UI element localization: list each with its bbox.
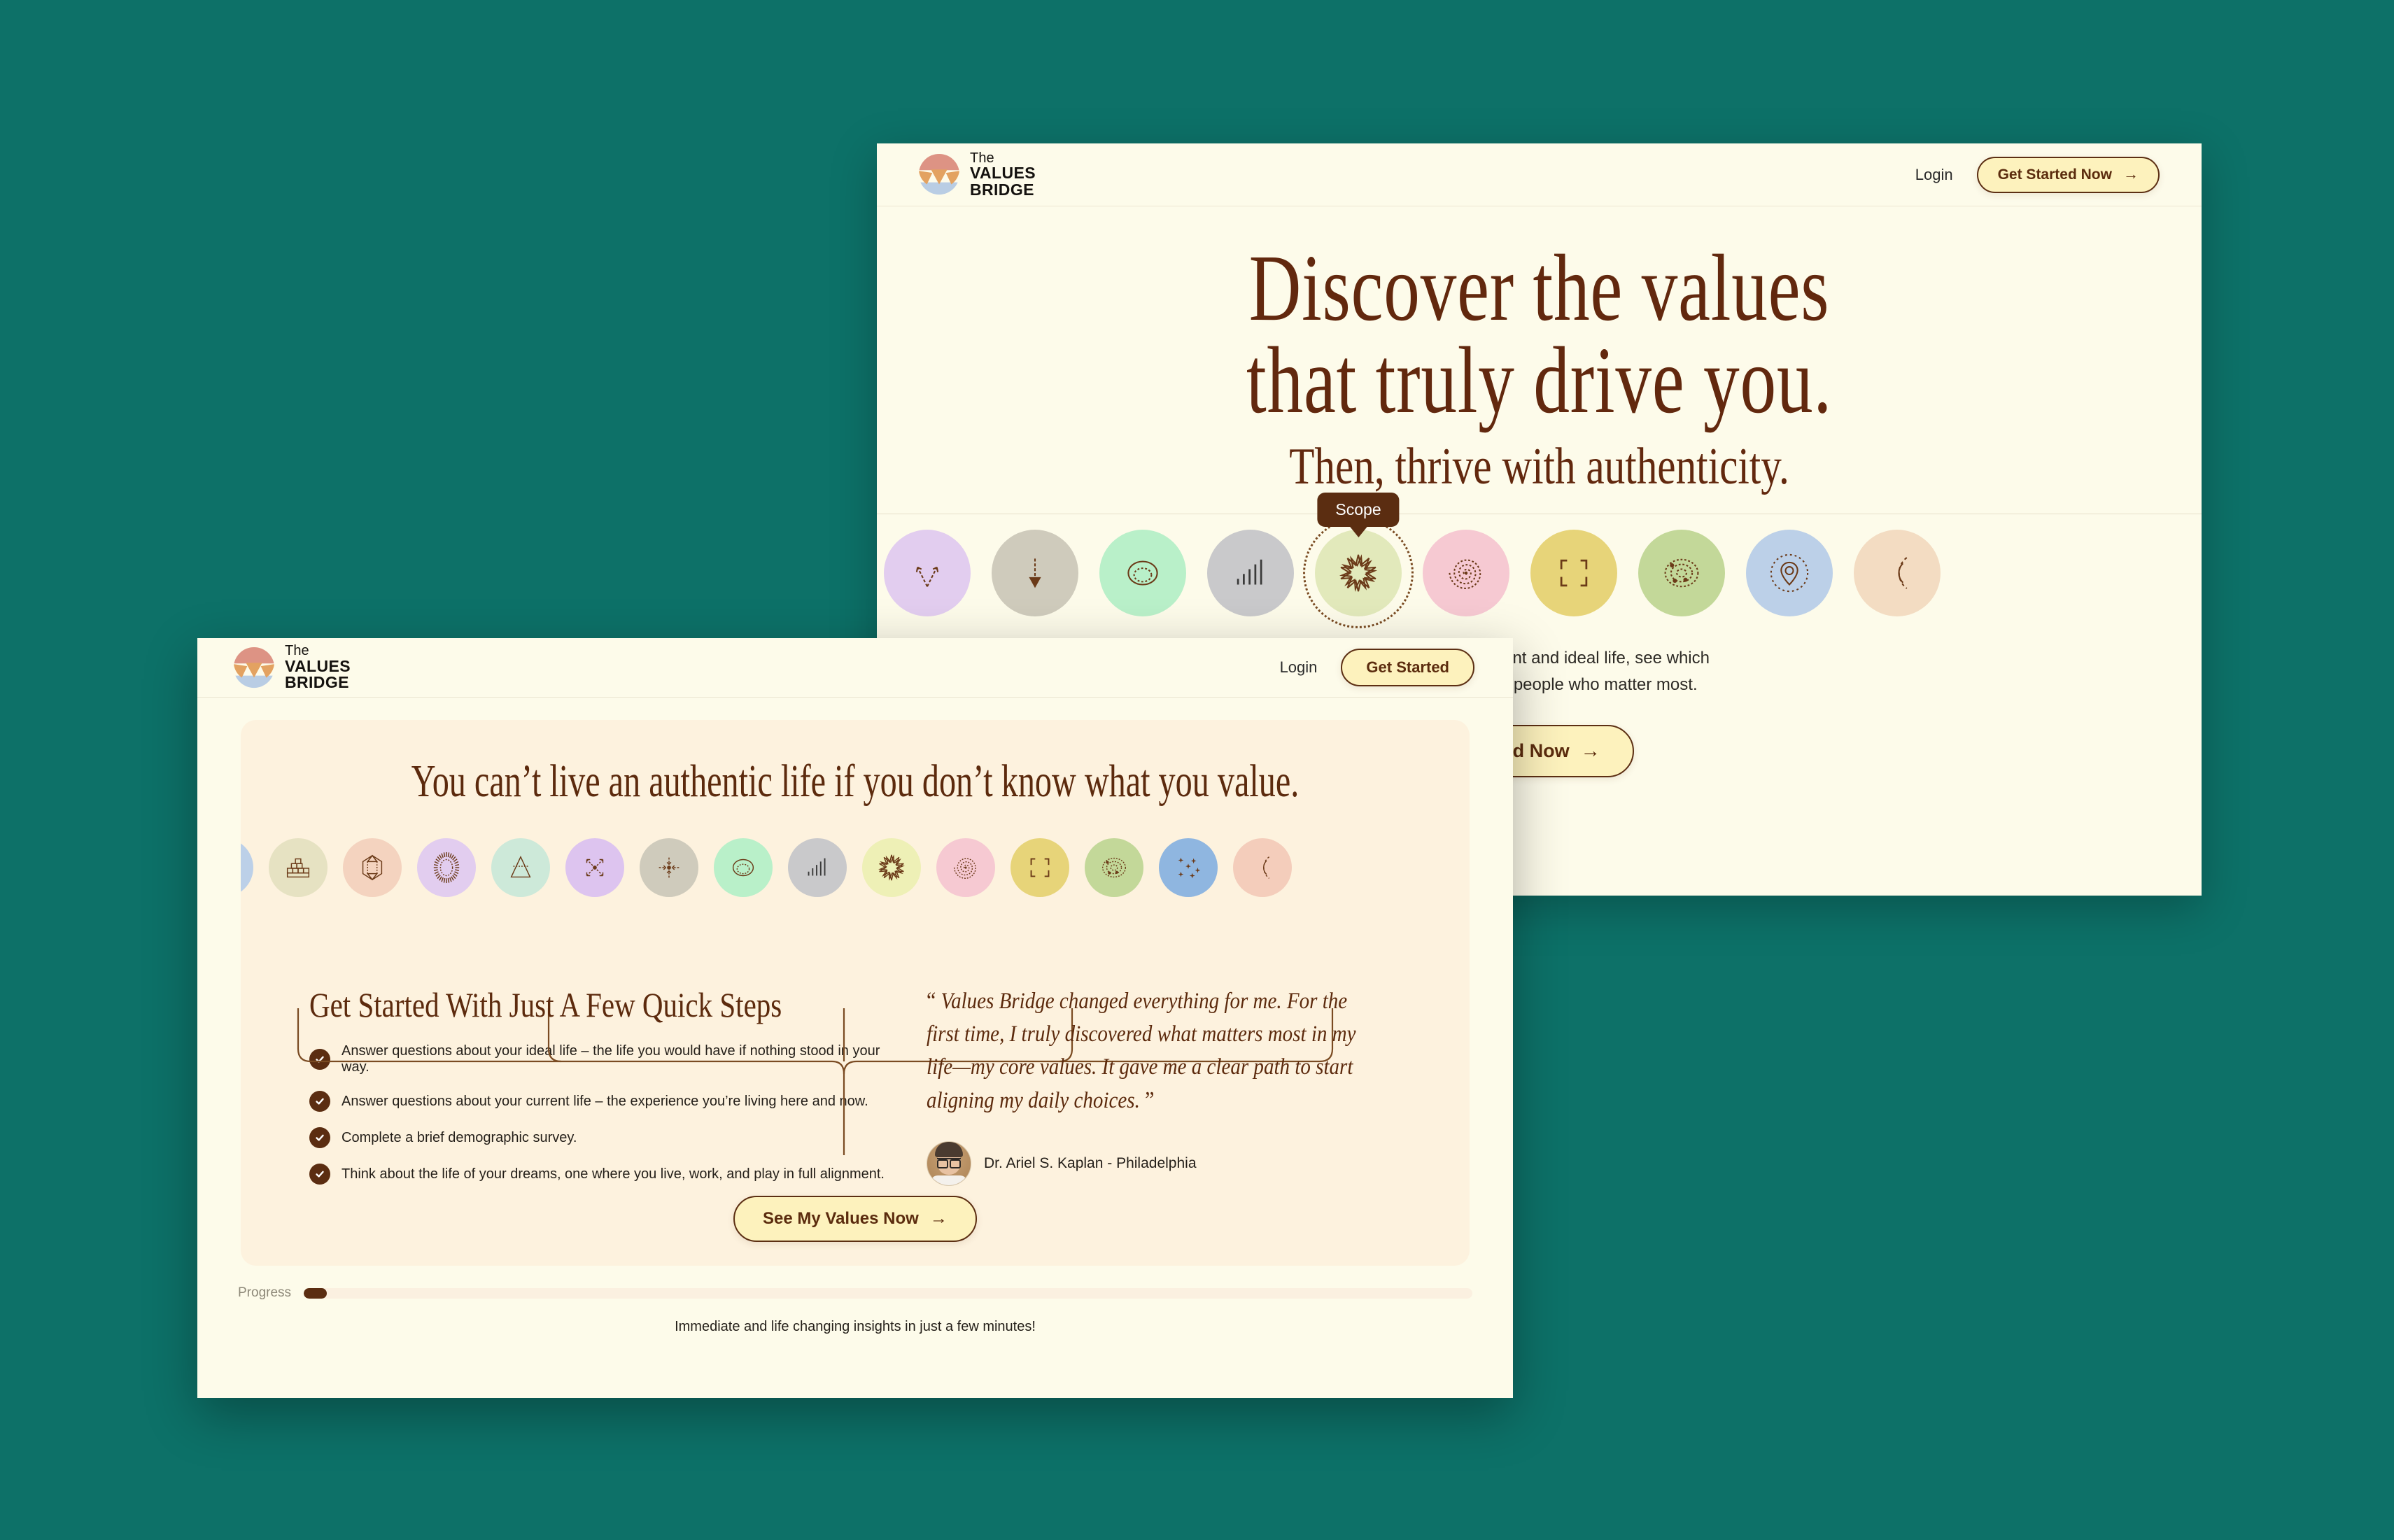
front-cta-label: Get Started [1366,658,1449,677]
step-text: Answer questions about your current life… [342,1094,868,1110]
testimonial-author-row: Dr. Ariel S. Kaplan - Philadelphia [927,1141,1435,1186]
step-text: Think about the life of your dreams, one… [342,1166,885,1182]
progress-row: Progress [238,1285,1472,1301]
value-icon-sunburst-oval[interactable] [417,838,476,897]
step-item: Think about the life of your dreams, one… [309,1164,899,1185]
value-icon-triangle[interactable] [491,838,550,897]
down-arrow-icon [1012,550,1058,596]
brand-logo-text: The VALUES BRIDGE [970,151,1036,198]
spiral-icon [950,852,982,884]
brand-logo-text: The VALUES BRIDGE [285,644,351,691]
avatar-hair [935,1142,963,1157]
card-heading: You can’t live an authentic life if you … [407,755,1304,808]
front-login-link[interactable]: Login [1280,658,1318,677]
brand-values: VALUES [285,658,351,674]
orbit-dots-icon [1659,550,1705,596]
testimonial-quote: “ Values Bridge changed everything for m… [927,984,1374,1117]
step-text: Answer questions about your ideal life –… [342,1043,899,1075]
check-icon [309,1049,330,1070]
see-my-values-now-button[interactable]: See My Values Now → [733,1196,977,1242]
orbit-dots-icon [1098,852,1130,884]
location-pin-icon [1766,550,1812,596]
hero-subhead: Then, thrive with authenticity. [1009,437,2069,497]
back-hero: Discover the values that truly drive you… [877,206,2202,514]
value-icon-location-pin[interactable] [1746,530,1833,616]
brand-bridge: BRIDGE [285,674,351,691]
arc-circle-icon [1120,550,1166,596]
value-icon-down-arrow[interactable] [992,530,1078,616]
brand-bridge: BRIDGE [970,182,1036,198]
open-quote-icon: “ [927,988,936,1014]
back-login-link[interactable]: Login [1915,166,1953,184]
steps-list: Answer questions about your ideal life –… [309,1043,899,1185]
see-my-values-label: See My Values Now [763,1209,919,1229]
brand-the: The [970,151,1036,165]
gem-hexagon-icon [356,852,388,884]
check-icon [309,1127,330,1148]
value-icon-starburst[interactable]: Scope [1315,530,1402,616]
testimonial-avatar [927,1141,971,1186]
sunburst-oval-icon [430,852,463,884]
progress-label: Progress [238,1285,291,1301]
front-value-icon-strip[interactable] [241,829,1423,906]
pyramid-blocks-icon [282,852,314,884]
value-icon-orbit-dots[interactable] [1638,530,1725,616]
back-value-icon-strip[interactable]: Scope [877,514,2202,633]
value-icon-partial-arc[interactable] [1233,838,1292,897]
brand-logo[interactable]: The VALUES BRIDGE [917,151,1036,198]
split-arrows-icon [904,550,950,596]
step-item: Answer questions about your current life… [309,1091,899,1112]
partial-icon [1874,550,1920,596]
hero-line-2: that truly drive you. [1036,335,2043,428]
arrow-right-icon: → [2123,167,2139,182]
value-icon-starburst[interactable] [862,838,921,897]
front-get-started-button[interactable]: Get Started [1341,649,1474,686]
check-icon [309,1091,330,1112]
back-window-header: The VALUES BRIDGE Login Get Started Now … [877,143,2202,206]
value-icon-bar-chart[interactable] [1207,530,1294,616]
spiral-icon [1443,550,1489,596]
value-icon-location-pin[interactable] [241,838,253,897]
value-icon-stars-scatter[interactable] [1159,838,1218,897]
front-footer: Progress Immediate and life changing ins… [197,1266,1513,1335]
partial-arc-icon [1246,852,1279,884]
value-icon-arc-circle[interactable] [714,838,773,897]
avatar-shirt [931,1175,967,1186]
value-icon-gem-hexagon[interactable] [343,838,402,897]
values-bridge-logo-icon [232,646,276,689]
arrow-right-icon: → [1581,741,1600,761]
avatar-glasses [937,1158,961,1166]
testimonial-text: Values Bridge changed everything for me.… [927,989,1356,1113]
value-icon-four-arrows-out[interactable] [565,838,624,897]
value-icon-spiral[interactable] [936,838,995,897]
value-icon-pyramid-blocks[interactable] [269,838,328,897]
progress-bar[interactable] [304,1288,1472,1299]
step-text: Complete a brief demographic survey. [342,1130,577,1146]
value-icon-brackets[interactable] [1530,530,1617,616]
front-browser-window: The VALUES BRIDGE Login Get Started You … [197,638,1513,1398]
onboarding-card: You can’t live an authentic life if you … [241,720,1470,1266]
value-icon-orbit-dots[interactable] [1085,838,1143,897]
value-icon-split-arrows[interactable] [884,530,971,616]
testimonial-author-name: Dr. Ariel S. Kaplan - Philadelphia [984,1155,1197,1172]
arc-circle-icon [727,852,759,884]
value-icon-arc-circle[interactable] [1099,530,1186,616]
value-icon-spiral[interactable] [1423,530,1509,616]
step-item: Complete a brief demographic survey. [309,1127,899,1148]
front-window-header: The VALUES BRIDGE Login Get Started [197,638,1513,698]
back-get-started-now-button[interactable]: Get Started Now → [1977,157,2160,193]
triangle-icon [505,852,537,884]
value-icon-bar-chart[interactable] [788,838,847,897]
check-icon [309,1164,330,1185]
testimonial-column: “ Values Bridge changed everything for m… [899,984,1435,1200]
scope-tooltip: Scope [1317,493,1399,527]
step-item: Answer questions about your ideal life –… [309,1043,899,1075]
card-cta-wrap: See My Values Now → [733,1196,977,1242]
steps-column: Get Started With Just A Few Quick Steps … [276,984,899,1200]
four-arrows-in-icon [653,852,685,884]
steps-heading: Get Started With Just A Few Quick Steps [309,984,792,1025]
starburst-icon [875,852,908,884]
value-icon-brackets[interactable] [1011,838,1069,897]
brand-values: VALUES [970,165,1036,181]
card-columns: Get Started With Just A Few Quick Steps … [241,984,1470,1200]
value-icon-four-arrows-in[interactable] [640,838,698,897]
brackets-icon [1024,852,1056,884]
stars-scatter-icon [1172,852,1204,884]
hero-line-1: Discover the values [1036,243,2043,335]
footer-note: Immediate and life changing insights in … [238,1319,1472,1335]
close-quote-icon: ” [1145,1087,1154,1113]
values-bridge-logo-icon [917,153,961,196]
brackets-icon [1551,550,1597,596]
bar-chart-icon [1227,550,1274,596]
arrow-right-icon: → [930,1210,948,1227]
four-arrows-out-icon [579,852,611,884]
brand-logo[interactable]: The VALUES BRIDGE [232,644,351,691]
brand-the: The [285,644,351,658]
value-icon-partial[interactable] [1854,530,1941,616]
bar-chart-icon [801,852,833,884]
progress-bar-fill [304,1288,327,1299]
back-cta-label: Get Started Now [1998,167,2112,183]
